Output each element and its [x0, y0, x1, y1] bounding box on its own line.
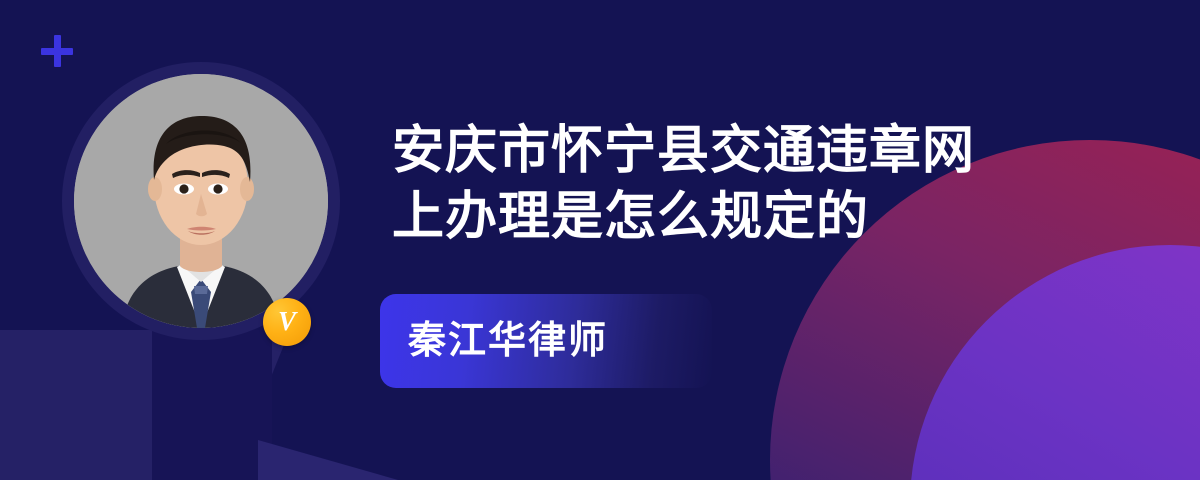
lawyer-name-label: 秦江华律师 [380, 322, 608, 360]
lawyer-question-banner: V 安庆市怀宁县交通违章网 上办理是怎么规定的 秦江华律师 [0, 0, 1200, 480]
lawyer-portrait-photo [74, 74, 328, 328]
decor-triangle [258, 440, 678, 480]
decor-wedge-dark [152, 330, 272, 480]
avatar: V [62, 62, 340, 340]
page-title: 安庆市怀宁县交通违章网 上办理是怎么规定的 [392, 118, 1152, 250]
verified-v-icon: V [263, 298, 311, 346]
headline-block: 安庆市怀宁县交通违章网 上办理是怎么规定的 [392, 118, 1152, 250]
lawyer-name-badge[interactable]: 秦江华律师 [380, 294, 712, 388]
verified-letter: V [278, 308, 296, 335]
